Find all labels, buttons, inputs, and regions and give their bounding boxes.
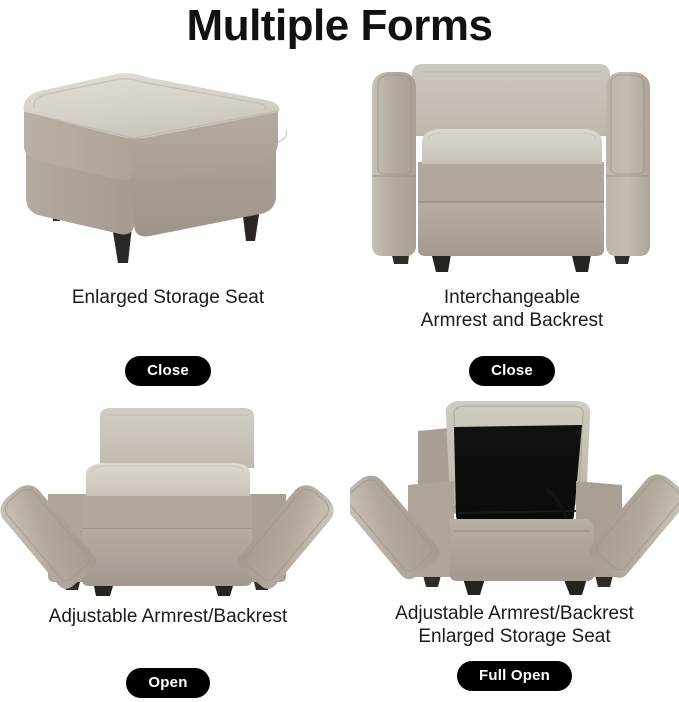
status-badge-full-open[interactable]: Full Open <box>457 661 572 691</box>
storage-ottoman-closed-image <box>8 58 328 283</box>
chair-armrest-left <box>372 72 416 256</box>
splayed-base-upper <box>82 494 252 528</box>
status-badge-close[interactable]: Close <box>125 356 211 386</box>
caption-line: Enlarged Storage Seat <box>72 287 264 308</box>
chair-seat-cushion <box>422 129 602 164</box>
badge-wrap-adjustable-armrest-backrest: Open <box>0 668 336 698</box>
product-form-card-interchangeable-armrest-backrest: Interchangeable Armrest and Backrest Clo… <box>352 50 672 358</box>
product-form-card-adjustable-armrest-backrest-enlarged-storage: Adjustable Armrest/Backrest Enlarged Sto… <box>350 393 679 698</box>
badge-wrap-enlarged-storage-seat: Close <box>8 356 328 386</box>
armchair-front-closed-image <box>352 50 672 282</box>
status-badge-close[interactable]: Close <box>469 356 555 386</box>
page-title: Multiple Forms <box>0 0 679 52</box>
caption-line: Adjustable Armrest/Backrest <box>350 603 679 626</box>
splayed-backrest <box>100 408 254 468</box>
splayed-seat-cushion <box>86 463 250 496</box>
caption-adjustable-armrest-backrest-enlarged-storage: Adjustable Armrest/Backrest Enlarged Sto… <box>350 603 679 648</box>
caption-line: Enlarged Storage Seat <box>350 626 679 649</box>
chair-backrest <box>412 64 610 136</box>
chair-base-upper <box>418 162 604 202</box>
splayed-base-lower <box>82 528 252 586</box>
infographic-page: Multiple Forms <box>0 0 679 702</box>
product-form-card-adjustable-armrest-backrest: Adjustable Armrest/Backrest Open <box>0 398 336 698</box>
caption-line: Interchangeable <box>352 287 672 310</box>
chair-armrest-right <box>606 72 650 256</box>
caption-enlarged-storage-seat: Enlarged Storage Seat <box>8 287 328 310</box>
caption-line: Armrest and Backrest <box>352 310 672 333</box>
badge-wrap-adjustable-armrest-backrest-enlarged-storage: Full Open <box>350 661 679 691</box>
status-badge-open[interactable]: Open <box>126 668 209 698</box>
armchair-storage-open-image <box>350 393 679 598</box>
caption-interchangeable-armrest-backrest: Interchangeable Armrest and Backrest <box>352 287 672 332</box>
caption-line: Adjustable Armrest/Backrest <box>49 606 288 627</box>
badge-wrap-interchangeable-armrest-backrest: Close <box>352 356 672 386</box>
product-form-card-enlarged-storage-seat: Enlarged Storage Seat Close <box>8 58 328 358</box>
armchair-arms-splayed-image <box>0 398 336 600</box>
fullopen-base-front <box>450 519 594 581</box>
caption-adjustable-armrest-backrest: Adjustable Armrest/Backrest <box>0 606 336 629</box>
chair-base-lower <box>418 202 604 256</box>
